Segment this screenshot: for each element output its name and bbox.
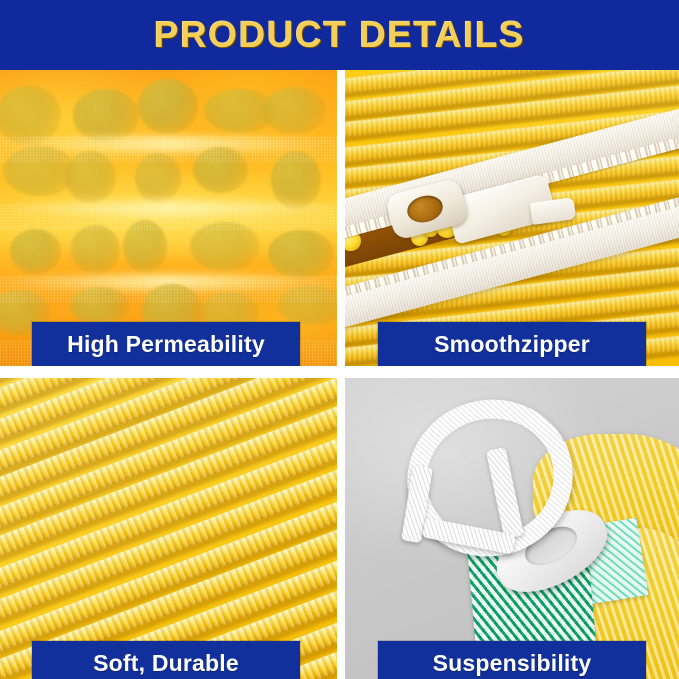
fabric-tuft: [262, 87, 326, 134]
feature-panel-suspensibility[interactable]: Suspensibility: [345, 378, 679, 679]
label-text: Soft, Durable: [93, 650, 239, 677]
photo-suspensibility: [345, 378, 679, 679]
label-text: Smoothzipper: [434, 331, 590, 358]
feature-grid: High Permeability Smoothzipper Soft, Dur…: [0, 70, 679, 679]
fabric-tuft: [73, 89, 139, 141]
fabric-tuft: [268, 230, 333, 277]
feature-panel-soft-durable[interactable]: Soft, Durable: [0, 378, 337, 679]
feature-panel-smooth-zipper[interactable]: Smoothzipper: [345, 70, 679, 366]
feature-panel-high-permeability[interactable]: High Permeability: [0, 70, 337, 366]
label-suspensibility: Suspensibility: [378, 641, 646, 679]
label-soft-durable: Soft, Durable: [32, 641, 300, 679]
header-banner: PRODUCT DETAILS: [0, 0, 679, 70]
label-text: High Permeability: [67, 331, 265, 358]
fabric-tuft: [10, 229, 61, 274]
fabric-weave-band: [0, 136, 337, 162]
photo-soft-durable: [0, 378, 337, 679]
product-details-infographic: PRODUCT DETAILS High Permeability Smooth…: [0, 0, 679, 679]
fabric-weave-band: [0, 204, 337, 230]
label-smooth-zipper: Smoothzipper: [378, 322, 646, 366]
label-text: Suspensibility: [433, 650, 592, 677]
fabric-tuft: [138, 79, 198, 134]
fabric-weave-band: [0, 276, 337, 302]
label-high-permeability: High Permeability: [32, 322, 300, 366]
fabric-tuft: [71, 225, 120, 273]
page-title: PRODUCT DETAILS: [154, 14, 525, 56]
